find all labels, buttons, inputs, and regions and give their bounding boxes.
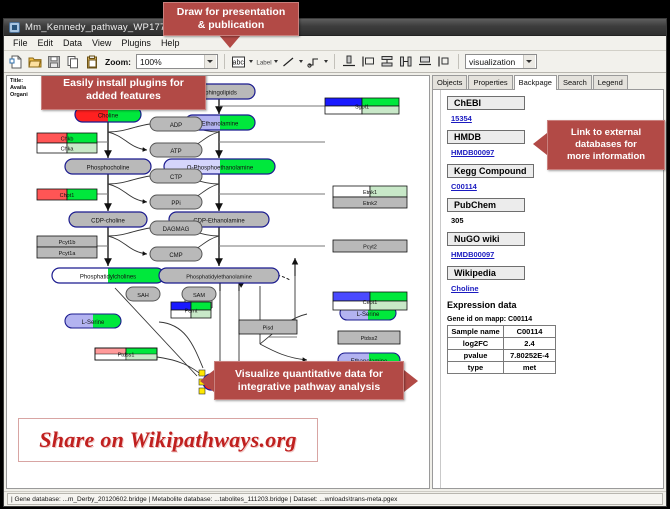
svg-text:Label: Label bbox=[256, 59, 271, 66]
node-label: DAGMAG bbox=[163, 227, 190, 233]
row-key: Sample name bbox=[448, 326, 504, 338]
node-label: ATP bbox=[170, 149, 181, 155]
callout-visualize-arrow-left bbox=[200, 370, 214, 392]
db-link-nugo-wiki[interactable]: HMDB00097 bbox=[451, 250, 659, 259]
line-tool[interactable] bbox=[281, 54, 303, 70]
db-header-hmdb: HMDB bbox=[447, 130, 525, 144]
gene-sgpl1[interactable]: Sgpl1 bbox=[325, 98, 399, 114]
gene-label: Chpt1 bbox=[60, 193, 75, 199]
gene-label: Cept1 bbox=[363, 300, 378, 306]
copy-icon[interactable] bbox=[65, 54, 81, 70]
tab-objects[interactable]: Objects bbox=[432, 75, 467, 89]
interaction-icon[interactable] bbox=[306, 54, 322, 70]
share-banner: Share on Wikipathways.org bbox=[18, 418, 318, 462]
gene-label: Chka bbox=[61, 147, 75, 153]
chevron-down-icon[interactable] bbox=[274, 60, 278, 63]
expression-data-title: Expression data bbox=[447, 300, 659, 310]
node-cmp[interactable]: CMP bbox=[150, 247, 202, 261]
chevron-down-icon[interactable] bbox=[299, 60, 303, 63]
layout-icon[interactable] bbox=[436, 54, 452, 70]
gene-label: Pemt bbox=[185, 309, 198, 315]
gene-label: Ptdss1 bbox=[118, 353, 135, 359]
node-label: SAH bbox=[137, 293, 149, 299]
node-phosphatidylcholines[interactable]: Phosphatidylcholines bbox=[52, 268, 164, 283]
node-label: Ethanolamine bbox=[202, 122, 239, 128]
gene-label: Pcyt1a bbox=[59, 251, 77, 257]
db-header-chebi: ChEBI bbox=[447, 96, 525, 110]
node-atp[interactable]: ATP bbox=[150, 143, 202, 157]
gene-chka[interactable]: Chka bbox=[37, 143, 97, 153]
gene-label: Chkb bbox=[61, 137, 74, 143]
db-header-pubchem: PubChem bbox=[447, 198, 525, 212]
db-value-pubchem: 305 bbox=[451, 216, 659, 225]
row-key: pvalue bbox=[448, 350, 504, 362]
toolbar-separator bbox=[224, 54, 225, 69]
gene-label: Pcyt1b bbox=[59, 240, 76, 246]
row-value: 2.4 bbox=[504, 338, 556, 350]
tab-legend[interactable]: Legend bbox=[593, 75, 628, 89]
chevron-down-icon[interactable] bbox=[204, 55, 216, 68]
toolbar: Zoom: 100% abc Label bbox=[4, 51, 666, 73]
node-l-serine-left[interactable]: L-Serine bbox=[65, 314, 121, 328]
menu-item-help[interactable]: Help bbox=[156, 37, 185, 50]
status-bar: | Gene database: ...m_Derby_20120602.bri… bbox=[4, 491, 666, 506]
gene-ptdss2[interactable]: Ptdss2 bbox=[338, 331, 400, 344]
gene-label: Etnk1 bbox=[363, 190, 377, 196]
align-left-icon[interactable] bbox=[360, 54, 376, 70]
gene-pcyt1a[interactable]: Pcyt1a bbox=[37, 247, 97, 258]
callout-links-arrow bbox=[533, 133, 547, 155]
node-label: CMP bbox=[169, 253, 182, 259]
callout-draw: Draw for presentation & publication bbox=[163, 2, 299, 36]
gene-label: Ptdss2 bbox=[361, 336, 378, 342]
tab-backpage[interactable]: Backpage bbox=[514, 75, 557, 90]
tab-search[interactable]: Search bbox=[558, 75, 592, 89]
callout-draw-arrow bbox=[219, 35, 241, 48]
paste-icon[interactable] bbox=[84, 54, 100, 70]
node-label: ADP bbox=[170, 123, 182, 129]
menu-item-plugins[interactable]: Plugins bbox=[116, 37, 156, 50]
callout-plugins: Easily install plugins for added feature… bbox=[41, 75, 206, 110]
new-file-icon[interactable] bbox=[8, 54, 24, 70]
node-phosphocholine[interactable]: Phosphocholine bbox=[65, 159, 151, 174]
gene-etnk2[interactable]: Etnk2 bbox=[333, 197, 407, 208]
gene-pemt[interactable]: Pemt bbox=[171, 302, 211, 318]
zoom-combobox[interactable]: 100% bbox=[136, 54, 218, 69]
row-value: 7.80252E-4 bbox=[504, 350, 556, 362]
toolbar-separator bbox=[334, 54, 335, 69]
callout-visualize-arrow-right bbox=[404, 370, 418, 392]
expression-table: Sample name C00114 log2FC 2.4 pvalue 7.8… bbox=[447, 325, 556, 374]
gene-cept1[interactable]: Cept1 bbox=[333, 292, 407, 310]
menu-item-data[interactable]: Data bbox=[58, 37, 87, 50]
table-row: type met bbox=[448, 362, 556, 374]
node-label: SAM bbox=[193, 293, 205, 299]
visualization-value: visualization bbox=[469, 57, 515, 67]
gene-pcyt1b[interactable]: Pcyt1b bbox=[37, 236, 97, 247]
chevron-down-icon[interactable] bbox=[324, 60, 328, 63]
node-adp[interactable]: ADP bbox=[150, 117, 202, 131]
gene-pisd[interactable]: Pisd bbox=[239, 320, 297, 334]
label-tool[interactable]: Label bbox=[256, 54, 278, 70]
db-link-wikipedia[interactable]: Choline bbox=[451, 284, 659, 293]
chevron-down-icon[interactable] bbox=[523, 55, 535, 68]
gene-label: Pisd bbox=[263, 326, 274, 332]
node-label: Phosphocholine bbox=[87, 166, 130, 172]
row-key: type bbox=[448, 362, 504, 374]
table-row: log2FC 2.4 bbox=[448, 338, 556, 350]
node-ctp[interactable]: CTP bbox=[150, 169, 202, 183]
visualization-combobox[interactable]: visualization bbox=[465, 54, 537, 69]
backpage-gutter bbox=[433, 90, 441, 488]
gene-chpt1[interactable]: Chpt1 bbox=[37, 189, 97, 200]
line-icon[interactable] bbox=[281, 54, 297, 70]
gene-ptdss1[interactable]: Ptdss1 bbox=[95, 348, 157, 360]
menu-item-view[interactable]: View bbox=[87, 37, 116, 50]
db-link-kegg-compound[interactable]: C00114 bbox=[451, 182, 659, 191]
save-icon[interactable] bbox=[46, 54, 62, 70]
open-folder-icon[interactable] bbox=[27, 54, 43, 70]
stack-icon[interactable] bbox=[417, 54, 433, 70]
callout-visualize: Visualize quantitative data for integrat… bbox=[214, 361, 404, 400]
node-phosphatidylethanolamine[interactable]: Phosphatidylethanolamine bbox=[159, 268, 279, 283]
callout-links: Link to external databases for more info… bbox=[547, 120, 665, 170]
node-label: CTP bbox=[170, 175, 182, 181]
chevron-down-icon[interactable] bbox=[249, 60, 253, 63]
side-panel-tabs: Objects Properties Backpage Search Legen… bbox=[432, 75, 664, 90]
gene-label: Pcyt2 bbox=[363, 245, 377, 251]
table-row: Sample name C00114 bbox=[448, 326, 556, 338]
row-key: log2FC bbox=[448, 338, 504, 350]
node-label: Sphingolipids bbox=[201, 91, 237, 97]
node-sam[interactable]: SAM bbox=[182, 287, 216, 301]
app-icon bbox=[9, 22, 20, 33]
node-label: Phosphatidylcholines bbox=[80, 275, 136, 281]
tab-properties[interactable]: Properties bbox=[468, 75, 512, 89]
menu-item-file[interactable]: File bbox=[8, 37, 33, 50]
title-bar: Mm_Kennedy_pathway_WP1771_45176.gpml bbox=[4, 19, 666, 36]
zoom-value: 100% bbox=[140, 57, 162, 67]
menu-bar: File Edit Data View Plugins Help bbox=[4, 36, 666, 51]
node-label: PPi bbox=[171, 201, 180, 207]
distribute-vertical-icon[interactable] bbox=[379, 54, 395, 70]
row-value: met bbox=[504, 362, 556, 374]
node-sah[interactable]: SAH bbox=[126, 287, 160, 301]
row-value: C00114 bbox=[504, 326, 556, 338]
db-header-kegg-compound: Kegg Compound bbox=[447, 164, 534, 178]
label-icon[interactable]: Label bbox=[256, 54, 272, 70]
node-label: CDP-Ethanolamine bbox=[193, 219, 245, 225]
table-row: pvalue 7.80252E-4 bbox=[448, 350, 556, 362]
node-cdp-choline[interactable]: CDP-choline bbox=[69, 212, 147, 227]
gene-label: Etnk2 bbox=[363, 201, 377, 207]
datanode-icon[interactable]: abc bbox=[231, 54, 247, 70]
node-dagmag[interactable]: DAGMAG bbox=[150, 221, 202, 235]
interaction-tool[interactable] bbox=[306, 54, 328, 70]
node-label: L-Serine bbox=[82, 320, 105, 326]
distribute-horizontal-icon[interactable] bbox=[398, 54, 414, 70]
toolbar-separator bbox=[458, 54, 459, 69]
db-header-nugo-wiki: NuGO wiki bbox=[447, 232, 525, 246]
node-label: Phosphatidylethanolamine bbox=[186, 275, 252, 281]
menu-item-edit[interactable]: Edit bbox=[33, 37, 59, 50]
gene-chkb[interactable]: Chkb bbox=[37, 133, 97, 143]
datanode-tool[interactable]: abc bbox=[231, 54, 253, 70]
node-label: CDP-choline bbox=[91, 219, 125, 225]
status-text: | Gene database: ...m_Derby_20120602.bri… bbox=[7, 493, 663, 505]
gene-pcyt2[interactable]: Pcyt2 bbox=[333, 240, 407, 252]
node-label: Choline bbox=[98, 114, 119, 120]
zoom-label: Zoom: bbox=[105, 57, 131, 67]
node-label: L-Serine bbox=[357, 312, 380, 318]
gene-etnk1[interactable]: Etnk1 bbox=[333, 186, 407, 197]
align-bottom-icon[interactable] bbox=[341, 54, 357, 70]
svg-text:abc: abc bbox=[233, 59, 245, 66]
gene-label: Sgpl1 bbox=[355, 105, 369, 111]
node-ppi[interactable]: PPi bbox=[150, 195, 202, 209]
share-banner-text: Share on Wikipathways.org bbox=[39, 427, 297, 453]
db-header-wikipedia: Wikipedia bbox=[447, 266, 525, 280]
gene-id-label: Gene id on mapp: C00114 bbox=[447, 316, 659, 323]
